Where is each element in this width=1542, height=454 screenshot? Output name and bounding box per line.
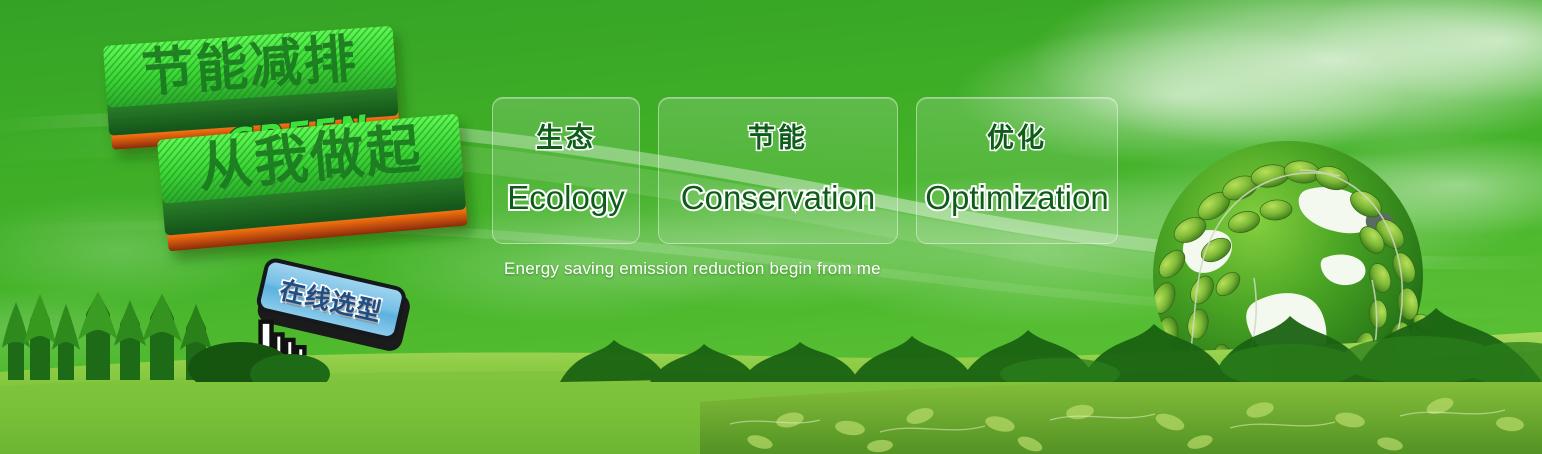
feature-cards: 生态 Ecology 节能 Conservation 优化 Optimizati… [492, 97, 1118, 244]
card-en-label: Ecology [507, 179, 624, 217]
card-en-label: Conservation [681, 179, 875, 217]
card-cn-label: 优化 [987, 116, 1047, 155]
card-cn-label: 生态 [536, 116, 596, 155]
feature-card-conservation[interactable]: 节能 Conservation [658, 97, 898, 244]
feature-card-ecology[interactable]: 生态 Ecology [492, 97, 640, 244]
hand-pointer-icon [240, 318, 314, 402]
feature-card-optimization[interactable]: 优化 Optimization [916, 97, 1118, 244]
title-artwork: 节能减排 GREEN 从我做起 [95, 36, 485, 266]
leafy-globe-icon [1128, 118, 1448, 438]
card-cn-label: 节能 [748, 116, 808, 155]
card-en-label: Optimization [925, 179, 1108, 217]
tagline: Energy saving emission reduction begin f… [504, 259, 881, 279]
green-banner: 节能减排 GREEN 从我做起 在线选型 [0, 0, 1542, 454]
